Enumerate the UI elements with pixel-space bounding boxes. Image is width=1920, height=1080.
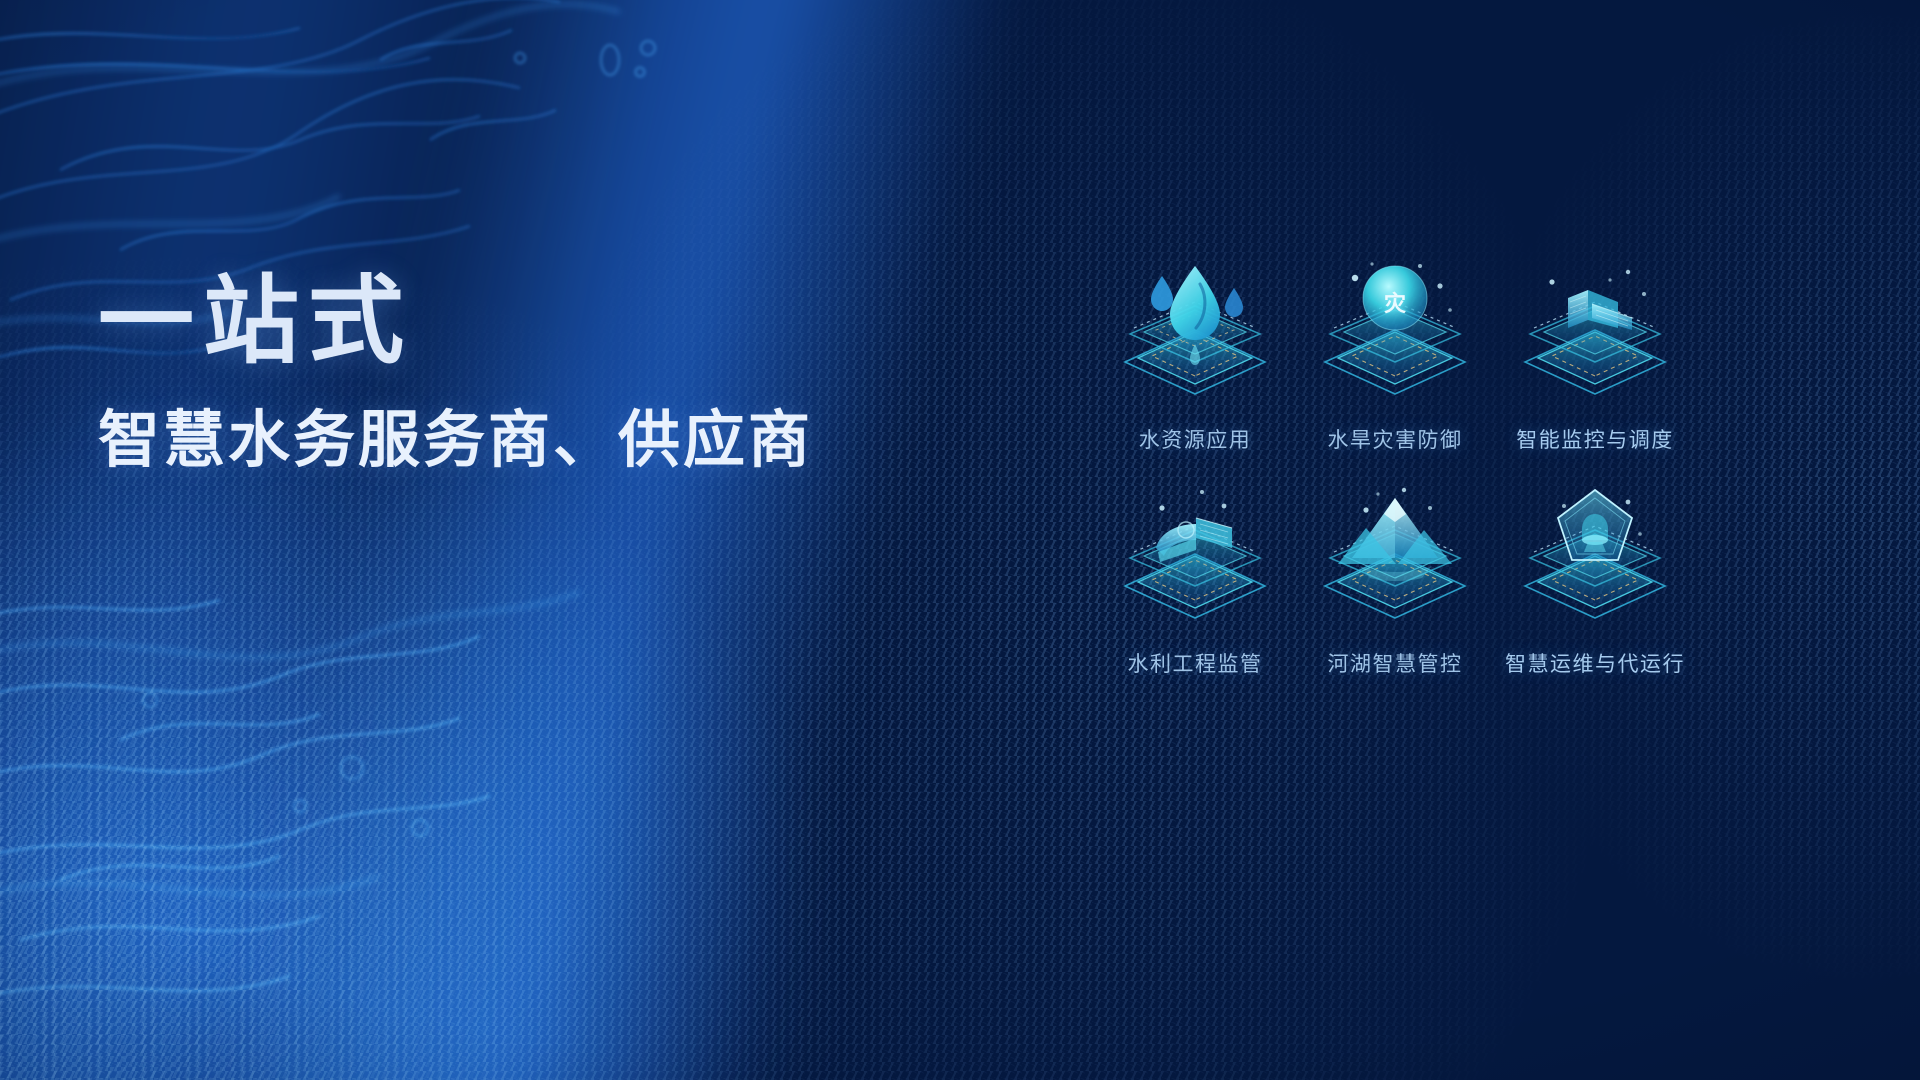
service-item-smart-operation-maintenance[interactable]: 智慧运维与代运行	[1495, 482, 1695, 706]
monitoring-station-icon	[1500, 258, 1690, 408]
service-item-intelligent-monitoring-dispatch[interactable]: 智能监控与调度	[1495, 258, 1695, 482]
page-subtitle: 智慧水务服务商、供应商	[98, 404, 813, 477]
service-item-label: 水旱灾害防御	[1328, 424, 1463, 454]
service-item-water-resource-application[interactable]: 水资源应用	[1095, 258, 1295, 482]
service-item-flood-drought-disaster-defense[interactable]: 灾 水旱灾害防御	[1295, 258, 1495, 482]
disaster-sphere-icon: 灾	[1300, 258, 1490, 408]
service-item-label: 智能监控与调度	[1516, 424, 1674, 454]
water-droplet-icon	[1100, 258, 1290, 408]
service-item-label: 智慧运维与代运行	[1505, 648, 1685, 678]
service-item-label: 水资源应用	[1139, 424, 1252, 454]
headline-block: 一站式 智慧水务服务商、供应商	[98, 270, 813, 477]
mountain-river-icon	[1300, 482, 1490, 632]
service-item-water-conservancy-project-supervision[interactable]: 水利工程监管	[1095, 482, 1295, 706]
banner-stage: 一站式 智慧水务服务商、供应商	[0, 0, 1920, 1080]
shield-pentagon-icon	[1500, 482, 1690, 632]
service-item-label: 水利工程监管	[1128, 648, 1263, 678]
page-title: 一站式	[98, 270, 813, 374]
service-item-river-lake-smart-management[interactable]: 河湖智慧管控	[1295, 482, 1495, 706]
service-item-label: 河湖智慧管控	[1328, 648, 1463, 678]
service-icon-grid: 水资源应用	[1095, 258, 1695, 706]
dam-structure-icon	[1100, 482, 1290, 632]
